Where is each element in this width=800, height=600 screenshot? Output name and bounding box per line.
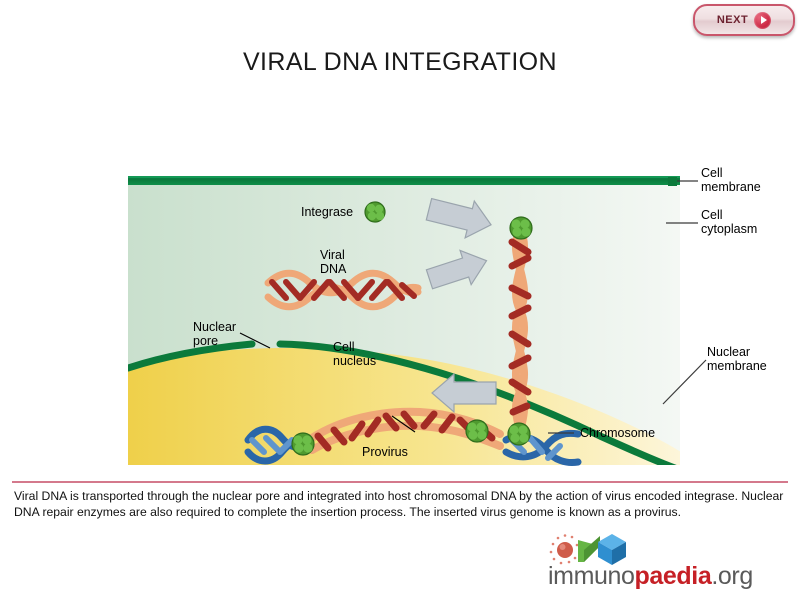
integrase-icon-top bbox=[510, 217, 532, 239]
logo-mark bbox=[548, 532, 788, 566]
slide-root: NEXT VIRAL DNA INTEGRATION bbox=[0, 0, 800, 600]
next-button-label: NEXT bbox=[717, 14, 748, 26]
cell-membrane-swatch bbox=[668, 177, 677, 186]
integrase-icon-left-junction bbox=[292, 433, 314, 455]
logo-part-paedia: paedia bbox=[635, 562, 712, 590]
label-cell-membrane: Cell membrane bbox=[701, 166, 761, 194]
label-chromosome: Chromosome bbox=[580, 426, 655, 440]
label-cell-cytoplasm: Cell cytoplasm bbox=[701, 208, 757, 236]
label-nuclear-pore: Nuclear pore bbox=[193, 320, 236, 348]
diagram-figure: Integrase Viral DNA Nuclear pore Cell nu… bbox=[0, 120, 800, 475]
play-icon bbox=[754, 12, 771, 29]
integrase-icon-pore bbox=[508, 423, 530, 445]
caption-text: Viral DNA is transported through the nuc… bbox=[14, 489, 786, 520]
logo-wordmark: immunopaedia.org bbox=[548, 562, 788, 591]
label-nuclear-membrane: Nuclear membrane bbox=[707, 345, 767, 373]
red-sphere-icon bbox=[557, 542, 573, 558]
label-cell-nucleus: Cell nucleus bbox=[333, 340, 376, 368]
next-button[interactable]: NEXT bbox=[693, 4, 795, 36]
integrase-icon-right-junction bbox=[466, 420, 488, 442]
caption-divider bbox=[12, 481, 788, 483]
blue-cube-icon bbox=[598, 534, 626, 565]
page-title: VIRAL DNA INTEGRATION bbox=[0, 48, 800, 77]
immunopaedia-logo[interactable]: immunopaedia.org bbox=[548, 532, 788, 590]
label-viral-dna: Viral DNA bbox=[320, 248, 346, 276]
viral-dna-entering-pore bbox=[512, 230, 528, 432]
label-provirus: Provirus bbox=[362, 445, 408, 459]
logo-part-org: .org bbox=[711, 562, 752, 590]
integrase-icon-label bbox=[365, 202, 385, 222]
logo-part-immuno: immuno bbox=[548, 562, 635, 590]
label-integrase: Integrase bbox=[301, 205, 353, 219]
